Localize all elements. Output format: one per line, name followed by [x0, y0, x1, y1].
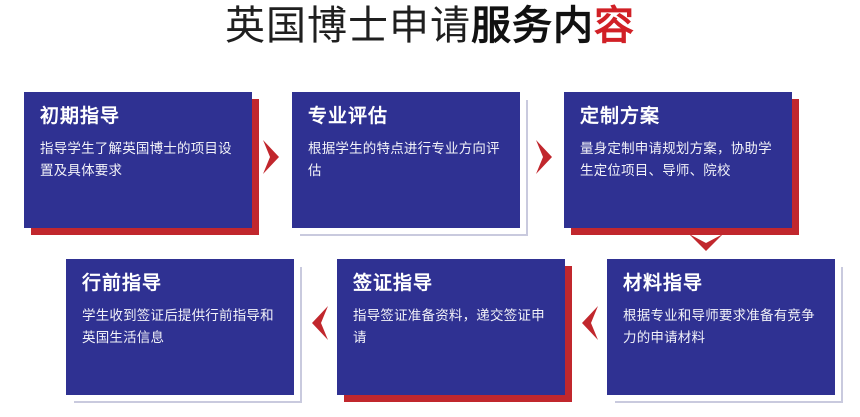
flow-card-title: 专业评估 — [308, 106, 504, 127]
chevron-right-icon — [259, 137, 285, 177]
flow-card-title: 行前指导 — [82, 273, 278, 294]
flow-card-step-3[interactable]: 定制方案 量身定制申请规划方案，协助学生定位项目、导师、院校 — [564, 92, 792, 228]
page-title-text: 英国博士申请服务内容 — [225, 6, 635, 46]
flow-card-step-5[interactable]: 签证指导 指导签证准备资料，递交签证申请 — [337, 259, 565, 395]
chevron-right-icon — [532, 137, 558, 177]
page-title: 英国博士申请服务内容 — [0, 6, 860, 46]
flow-card-body: 学生收到签证后提供行前指导和英国生活信息 — [82, 306, 278, 350]
chevron-left-icon — [306, 303, 332, 343]
flow-card-body: 根据学生的特点进行专业方向评估 — [308, 139, 504, 183]
chevron-left-icon — [576, 303, 602, 343]
flow-card-title: 初期指导 — [40, 106, 236, 127]
page-title-segment-accent: 容 — [594, 3, 635, 49]
flow-card-step-1[interactable]: 初期指导 指导学生了解英国博士的项目设置及具体要求 — [24, 92, 252, 228]
page-title-segment-bold: 服务内 — [471, 3, 594, 49]
flow-card-title: 签证指导 — [353, 273, 549, 294]
flow-card-body: 指导签证准备资料，递交签证申请 — [353, 306, 549, 350]
flow-card-title: 定制方案 — [580, 106, 776, 127]
flow-card-body: 指导学生了解英国博士的项目设置及具体要求 — [40, 139, 236, 183]
flow-card-body: 根据专业和导师要求准备有竞争力的申请材料 — [623, 306, 819, 350]
chevron-down-icon — [686, 231, 726, 257]
flow-card-step-4[interactable]: 材料指导 根据专业和导师要求准备有竞争力的申请材料 — [607, 259, 835, 395]
flow-card-body: 量身定制申请规划方案，协助学生定位项目、导师、院校 — [580, 139, 776, 183]
flow-card-step-6[interactable]: 行前指导 学生收到签证后提供行前指导和英国生活信息 — [66, 259, 294, 395]
page-title-segment-plain: 英国博士申请 — [225, 3, 471, 49]
flow-card-step-2[interactable]: 专业评估 根据学生的特点进行专业方向评估 — [292, 92, 520, 228]
flow-card-title: 材料指导 — [623, 273, 819, 294]
